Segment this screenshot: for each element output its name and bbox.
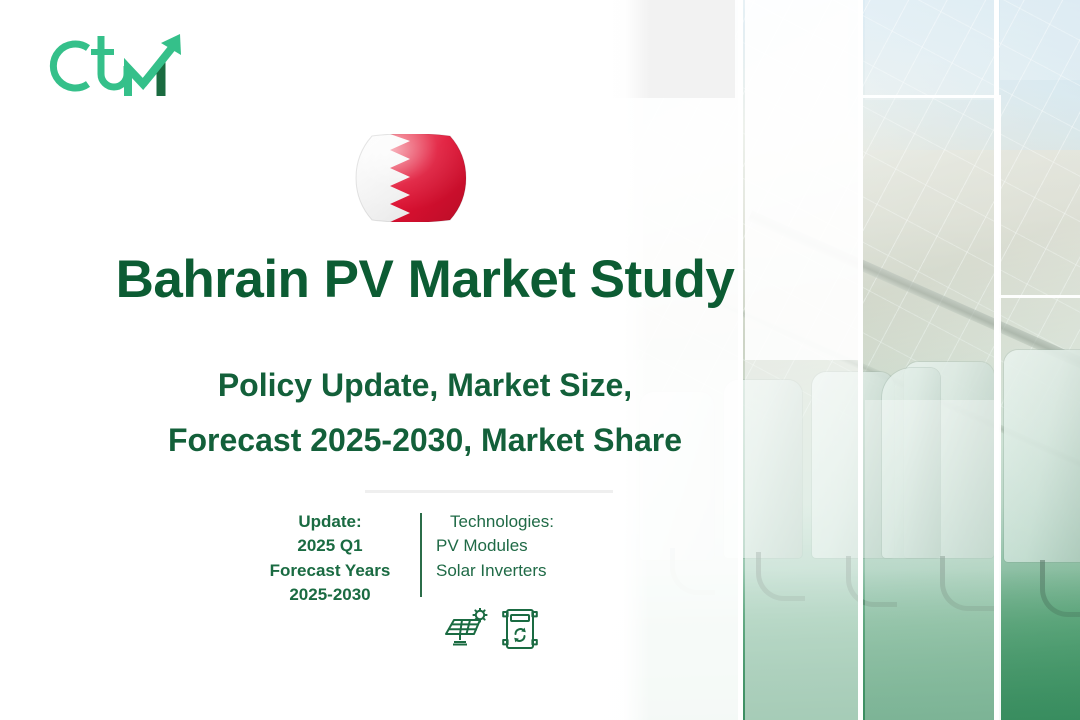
subtitle-line-1: Policy Update, Market Size, — [0, 358, 850, 413]
info-block: Update: 2025 Q1 Forecast Years 2025-2030… — [246, 510, 596, 670]
poster-canvas: Bahrain PV Market Study Policy Update, M… — [0, 0, 1080, 720]
update-info-column: Update: 2025 Q1 Forecast Years 2025-2030 — [246, 510, 414, 607]
solar-inverter-icon — [500, 606, 540, 657]
collage-pane-outline — [862, 98, 998, 720]
page-title: Bahrain PV Market Study — [0, 252, 850, 308]
technology-item-pv-modules: PV Modules — [436, 534, 596, 558]
subtitle-line-2: Forecast 2025-2030, Market Share — [0, 413, 850, 468]
collage-pane-outline — [998, 298, 1080, 720]
forecast-label: Forecast Years — [246, 559, 414, 583]
technology-icons — [442, 606, 540, 657]
technologies-column: Technologies: PV Modules Solar Inverters — [436, 510, 596, 583]
technologies-label: Technologies: — [436, 510, 596, 534]
ctm-logo[interactable] — [44, 22, 194, 108]
update-value: 2025 Q1 — [246, 534, 414, 558]
collage-separator — [858, 0, 863, 720]
collage-pane — [1000, 0, 1080, 80]
update-label: Update: — [246, 510, 414, 534]
collage-pane — [865, 0, 995, 100]
bahrain-flag-icon — [352, 134, 470, 222]
solar-panel-icon — [442, 608, 488, 657]
technology-item-solar-inverters: Solar Inverters — [436, 559, 596, 583]
vertical-divider — [420, 513, 422, 597]
horizontal-rule — [365, 490, 613, 493]
collage-separator — [994, 0, 999, 720]
page-subtitle: Policy Update, Market Size, Forecast 202… — [0, 358, 850, 468]
forecast-value: 2025-2030 — [246, 583, 414, 607]
